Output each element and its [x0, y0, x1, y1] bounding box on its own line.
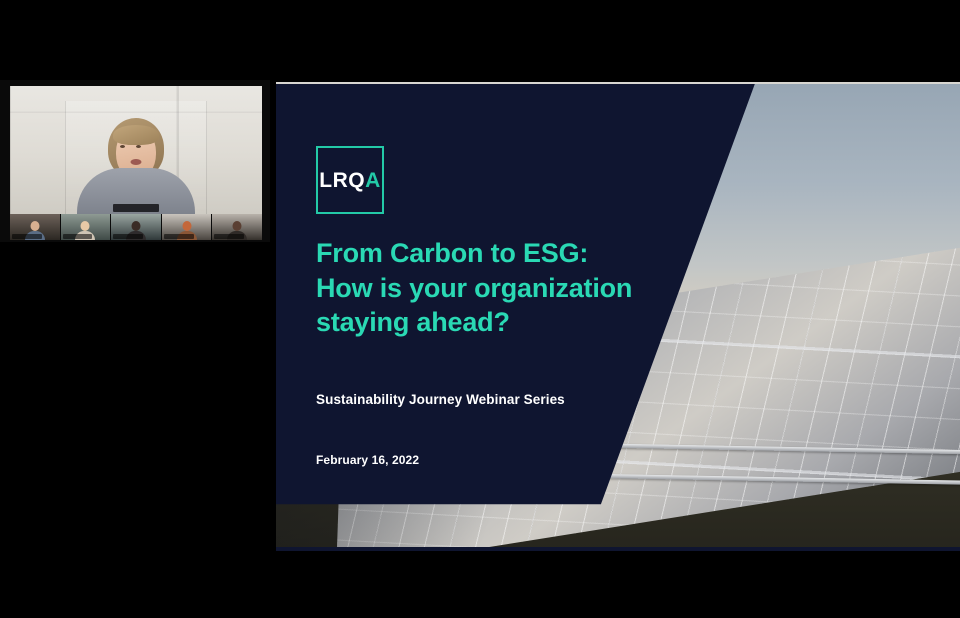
thumbnail-name-label — [113, 234, 143, 239]
speaker-name-badge — [113, 204, 159, 212]
participant-thumbnail[interactable] — [10, 214, 60, 240]
lrqa-logo-a: A — [365, 170, 381, 191]
participant-thumbnail[interactable] — [162, 214, 212, 240]
thumbnail-name-label — [12, 234, 42, 239]
speaker-eye-right — [136, 145, 141, 148]
speaker-mouth — [131, 159, 142, 165]
lrqa-logo-wordmark: LRQA — [319, 170, 381, 191]
video-participants-panel — [0, 80, 270, 242]
thumbnail-head — [81, 221, 90, 231]
active-speaker-tile[interactable] — [10, 86, 262, 214]
lrqa-logo: LRQA — [316, 146, 384, 214]
shared-presentation-slide[interactable]: LRQA From Carbon to ESG: How is your org… — [276, 82, 960, 551]
thumbnail-head — [30, 221, 39, 231]
participant-filmstrip — [10, 214, 262, 240]
thumbnail-name-label — [63, 234, 93, 239]
speaker-person — [61, 118, 211, 214]
speaker-hair-front — [113, 125, 159, 145]
slide-date: February 16, 2022 — [316, 453, 419, 467]
lrqa-logo-lrq: LRQ — [319, 170, 365, 191]
thumbnail-head — [233, 221, 242, 231]
slide-content: LRQA From Carbon to ESG: How is your org… — [276, 84, 960, 551]
slide-title-line-1: From Carbon to ESG: — [316, 236, 716, 271]
thumbnail-name-label — [164, 234, 194, 239]
screen-recording-frame: LRQA From Carbon to ESG: How is your org… — [0, 0, 960, 618]
participant-thumbnail[interactable] — [61, 214, 111, 240]
slide-title-line-3: staying ahead? — [316, 305, 716, 340]
slide-title-line-2: How is your organization — [316, 271, 716, 306]
participant-thumbnail[interactable] — [111, 214, 161, 240]
thumbnail-head — [131, 221, 140, 231]
thumbnail-head — [182, 221, 191, 231]
speaker-eye-left — [120, 145, 125, 148]
participant-thumbnail[interactable] — [212, 214, 262, 240]
slide-title: From Carbon to ESG: How is your organiza… — [316, 236, 716, 340]
thumbnail-name-label — [214, 234, 244, 239]
slide-subtitle: Sustainability Journey Webinar Series — [316, 392, 565, 407]
